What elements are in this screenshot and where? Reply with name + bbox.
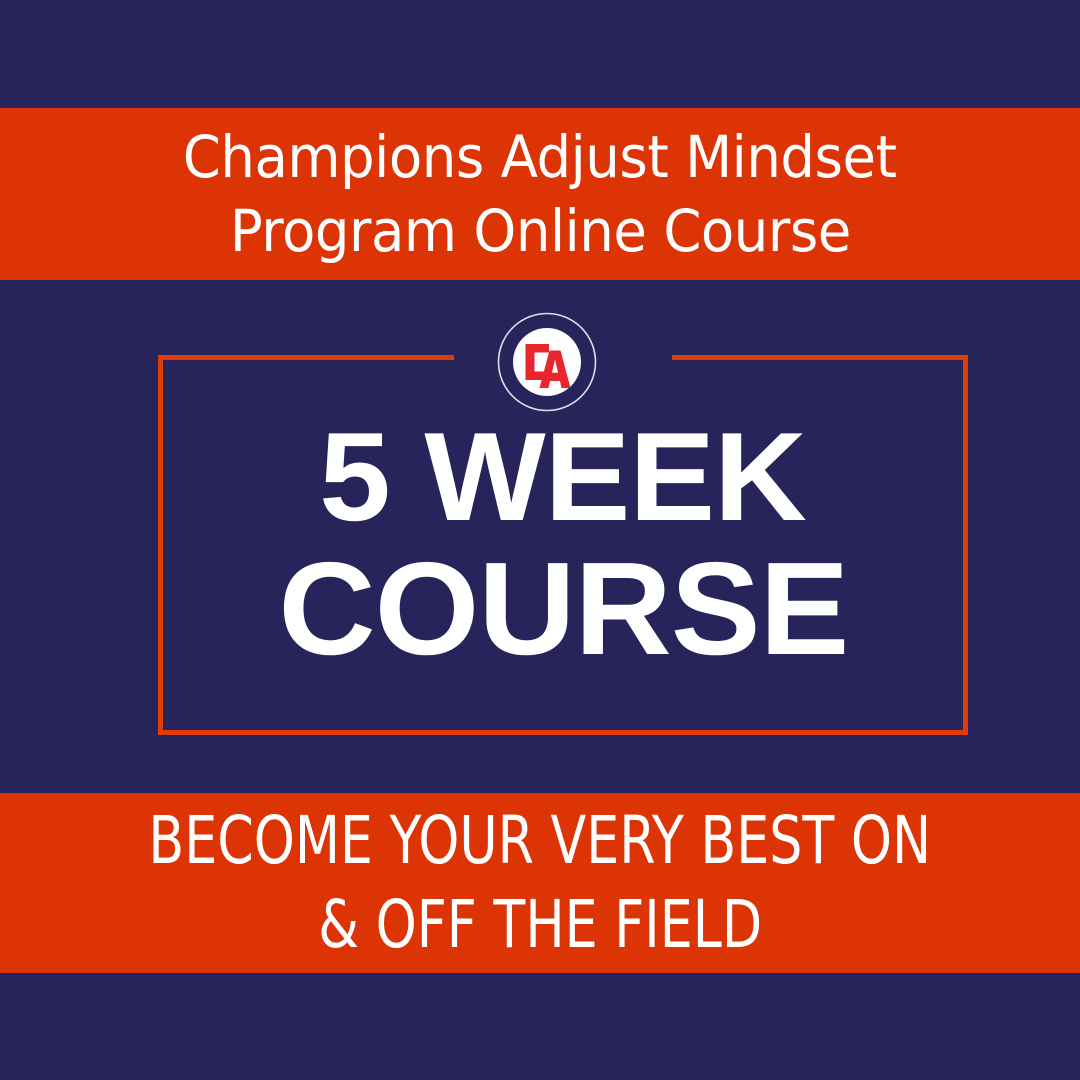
top-banner-line-2: Program Online Course xyxy=(229,194,850,268)
headline-line-2: COURSE xyxy=(278,542,848,677)
top-banner-line-1: Champions Adjust Mindset xyxy=(183,120,897,194)
promo-poster: Champions Adjust Mindset Program Online … xyxy=(0,0,1080,1080)
top-banner: Champions Adjust Mindset Program Online … xyxy=(0,108,1080,280)
bottom-banner-line-2: & OFF THE FIELD xyxy=(318,883,762,967)
bottom-banner-line-1: BECOME YOUR VERY BEST ON xyxy=(149,799,932,883)
headline-block: 5 WEEK COURSE xyxy=(158,355,968,735)
bottom-banner: BECOME YOUR VERY BEST ON & OFF THE FIELD xyxy=(0,793,1080,973)
headline-line-1: 5 WEEK xyxy=(320,413,807,542)
